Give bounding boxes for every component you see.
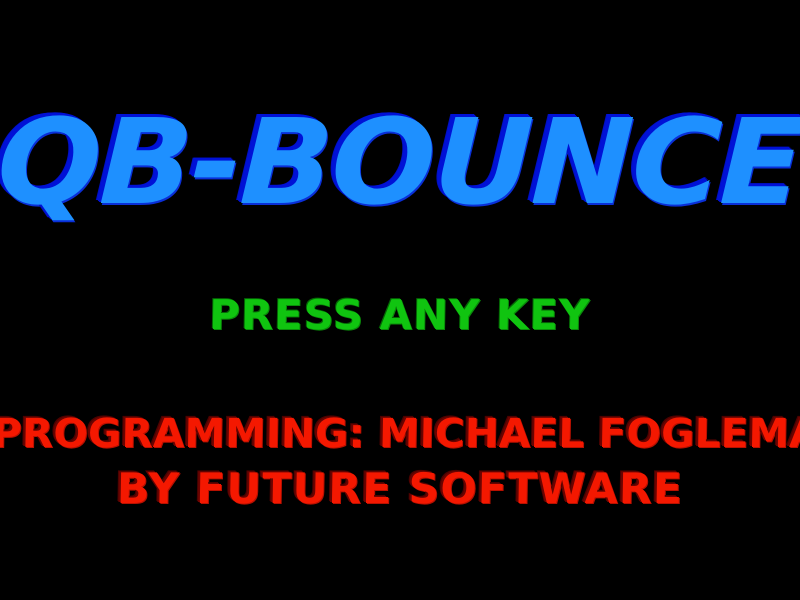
title-container: QB-BOUNCE: [0, 96, 800, 228]
credits-block: PROGRAMMING: MICHAEL FOGLEMAN BY FUTURE …: [0, 414, 800, 510]
game-title: QB-BOUNCE: [0, 103, 800, 221]
credit-line-publisher: BY FUTURE SOFTWARE: [0, 468, 800, 510]
credit-line-programming: PROGRAMMING: MICHAEL FOGLEMAN: [0, 414, 800, 454]
game-title-screen[interactable]: QB-BOUNCE PRESS ANY KEY PROGRAMMING: MIC…: [0, 0, 800, 600]
press-any-key-container: PRESS ANY KEY: [0, 292, 800, 338]
press-any-key-prompt[interactable]: PRESS ANY KEY: [209, 295, 591, 336]
